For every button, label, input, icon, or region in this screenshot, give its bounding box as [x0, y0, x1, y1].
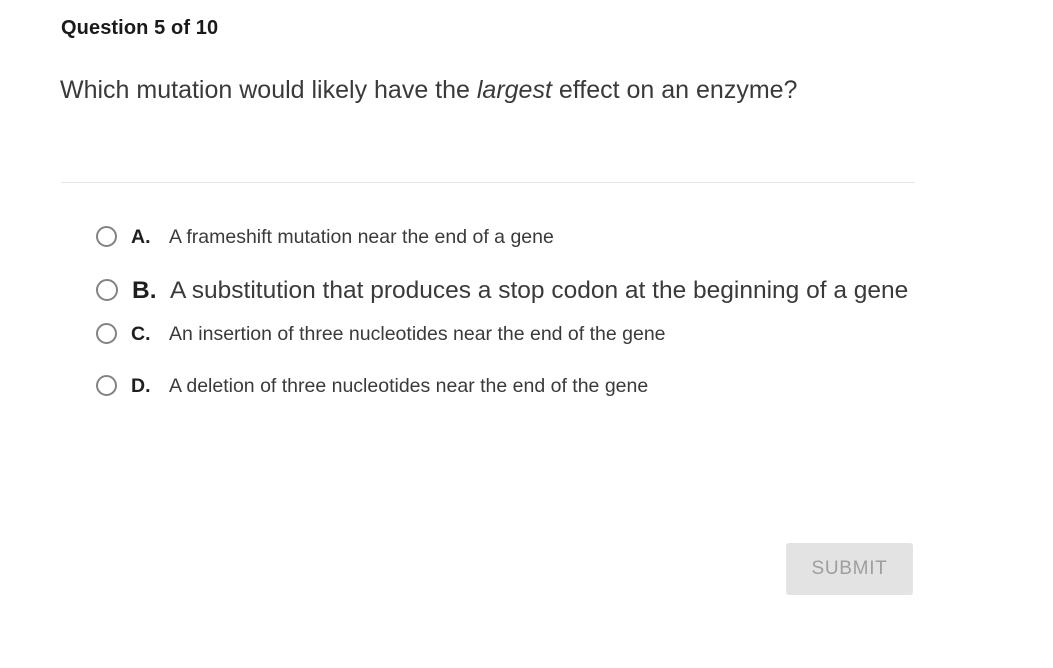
- quiz-page: Question 5 of 10 Which mutation would li…: [0, 0, 1053, 668]
- option-letter-d: D.: [131, 373, 169, 399]
- option-letter-b: B.: [132, 272, 170, 309]
- answer-option-b[interactable]: B. A substitution that produces a stop c…: [96, 272, 956, 309]
- question-counter: Question 5 of 10: [61, 17, 218, 40]
- option-letter-c: C.: [131, 321, 169, 347]
- radio-button-icon-a[interactable]: [96, 226, 117, 247]
- option-text-d: A deletion of three nucleotides near the…: [169, 373, 956, 399]
- question-prompt-part-1: Which mutation would likely have the: [60, 76, 477, 104]
- answer-options-list: A. A frameshift mutation near the end of…: [96, 224, 956, 417]
- answer-option-d[interactable]: D. A deletion of three nucleotides near …: [96, 373, 956, 399]
- radio-button-icon-c[interactable]: [96, 323, 117, 344]
- radio-button-icon-b[interactable]: [96, 279, 118, 301]
- answer-option-a[interactable]: A. A frameshift mutation near the end of…: [96, 224, 956, 250]
- submit-button[interactable]: SUBMIT: [786, 543, 913, 595]
- option-letter-a: A.: [131, 224, 169, 250]
- section-divider: [61, 182, 915, 183]
- option-text-b: A substitution that produces a stop codo…: [170, 272, 956, 309]
- question-prompt-emphasis: largest: [477, 76, 552, 104]
- option-text-c: An insertion of three nucleotides near t…: [169, 321, 956, 347]
- radio-button-icon-d[interactable]: [96, 375, 117, 396]
- question-prompt: Which mutation would likely have the lar…: [60, 72, 860, 109]
- option-text-a: A frameshift mutation near the end of a …: [169, 224, 956, 250]
- answer-option-c[interactable]: C. An insertion of three nucleotides nea…: [96, 321, 956, 347]
- question-prompt-part-2: effect on an enzyme?: [552, 76, 798, 104]
